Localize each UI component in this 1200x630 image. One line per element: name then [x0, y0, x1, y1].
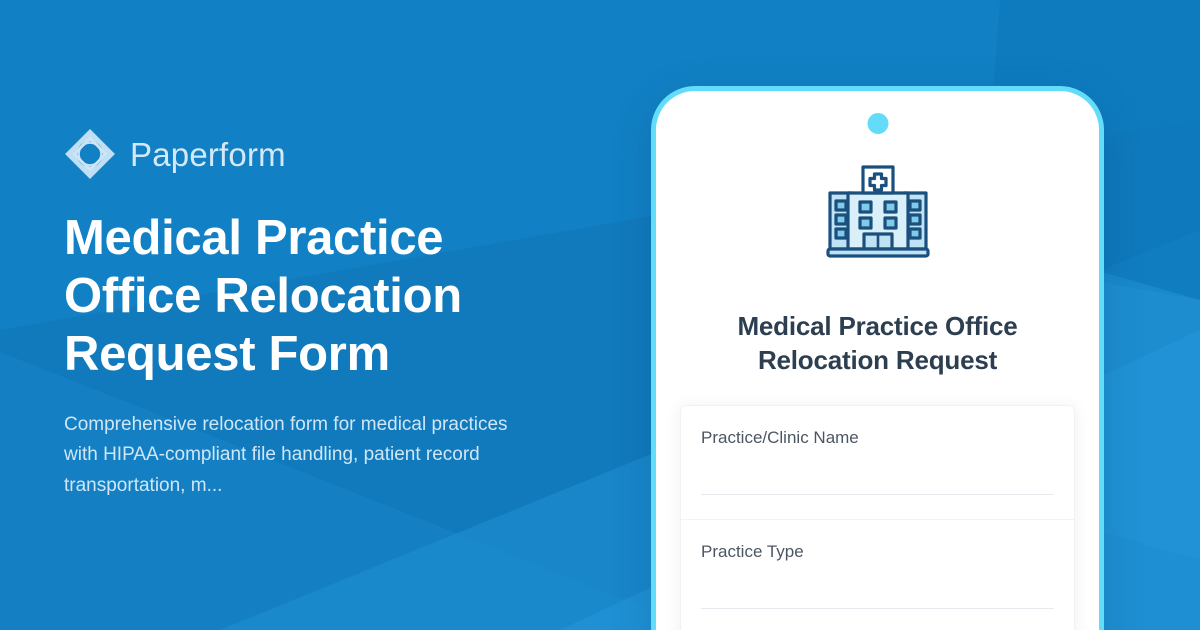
hero-content: Paperform Medical Practice Office Reloca…: [64, 0, 604, 630]
form-field-practice-type[interactable]: Practice Type: [681, 520, 1074, 630]
page-title: Medical Practice Office Relocation Reque…: [64, 210, 494, 383]
camera-dot-icon: [867, 113, 888, 134]
field-underline: [701, 608, 1054, 609]
field-label: Practice/Clinic Name: [701, 428, 1054, 448]
paperform-logo-icon: [64, 128, 116, 180]
form-hero-icon-wrap: [656, 163, 1099, 259]
page-description: Comprehensive relocation form for medica…: [64, 410, 519, 502]
form-card: Practice/Clinic Name Practice Type: [680, 405, 1075, 630]
form-title: Medical Practice Office Relocation Reque…: [684, 309, 1071, 378]
brand-name: Paperform: [130, 138, 286, 171]
og-image-canvas: Paperform Medical Practice Office Reloca…: [0, 0, 1200, 630]
form-field-practice-name[interactable]: Practice/Clinic Name: [681, 406, 1074, 520]
brand-lockup: Paperform: [64, 128, 604, 180]
hospital-building-icon: [826, 163, 930, 259]
field-underline: [701, 494, 1054, 495]
phone-mockup: Medical Practice Office Relocation Reque…: [651, 86, 1104, 630]
field-label: Practice Type: [701, 542, 1054, 562]
